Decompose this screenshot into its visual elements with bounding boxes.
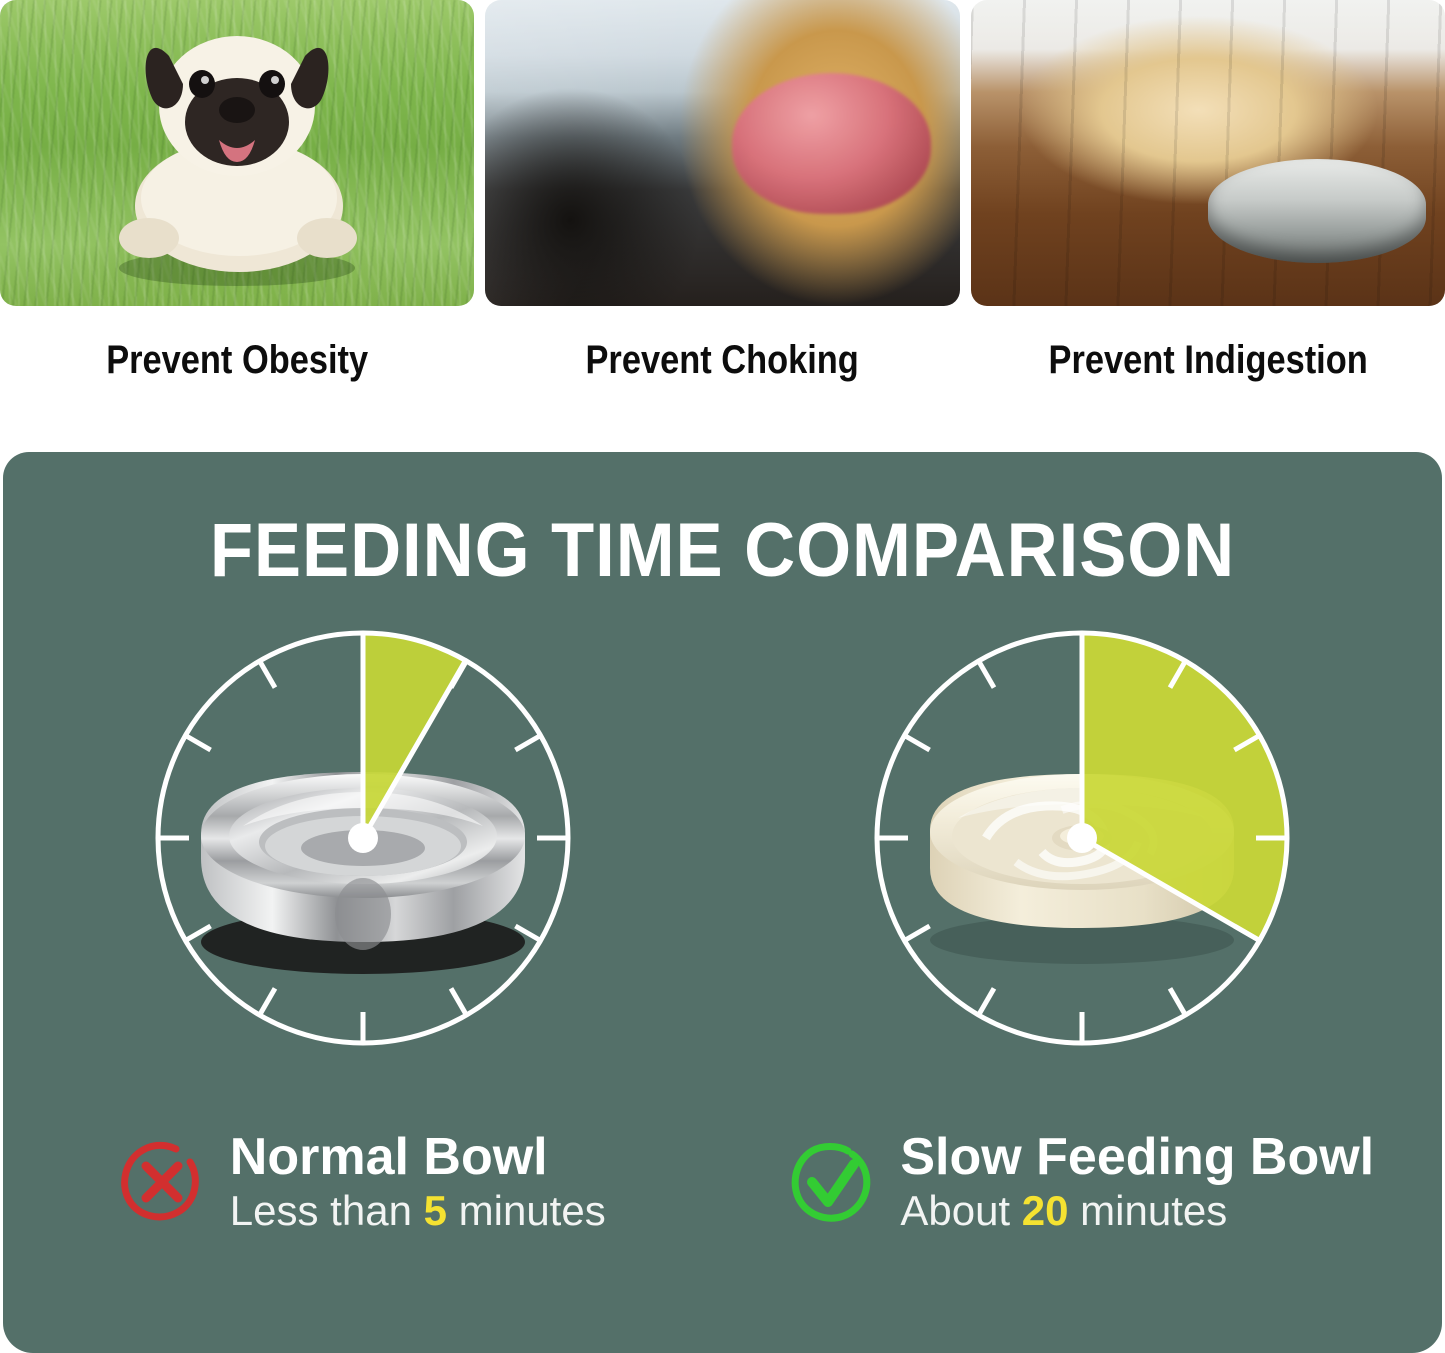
result-text: Normal Bowl Less than 5 minutes <box>230 1128 606 1236</box>
dog-mouth-check-photo <box>485 0 959 306</box>
result-sub-value: 20 <box>1022 1187 1069 1234</box>
results-row: Normal Bowl Less than 5 minutes Slow Fee… <box>3 1128 1442 1236</box>
result-subtitle: Less than 5 minutes <box>230 1186 606 1236</box>
result-sub-suffix: minutes <box>447 1187 606 1234</box>
benefit-card-obesity: Prevent Obesity <box>0 0 474 420</box>
fat-pug-on-grass-photo <box>0 0 474 306</box>
result-sub-prefix: Less than <box>230 1187 424 1234</box>
result-title: Slow Feeding Bowl <box>900 1128 1374 1186</box>
benefit-caption: Prevent Obesity <box>33 336 441 384</box>
green-check-icon <box>790 1140 874 1224</box>
benefit-caption: Prevent Indigestion <box>1004 336 1412 384</box>
result-text: Slow Feeding Bowl About 20 minutes <box>900 1128 1374 1236</box>
slow-feeding-bowl-clock-column <box>723 622 1443 1142</box>
normal-bowl-clock <box>147 622 579 1054</box>
clock-center-hub <box>348 823 378 853</box>
result-title: Normal Bowl <box>230 1128 606 1186</box>
result-sub-value: 5 <box>424 1187 447 1234</box>
product-infographic: Prevent Obesity Prevent Choking Prevent … <box>0 0 1445 1353</box>
normal-bowl-clock-column <box>3 622 723 1142</box>
result-sub-prefix: About <box>900 1187 1021 1234</box>
clock-comparison-row <box>3 622 1442 1142</box>
clock-center-hub <box>1067 823 1097 853</box>
benefit-card-indigestion: Prevent Indigestion <box>971 0 1445 420</box>
benefit-card-choking: Prevent Choking <box>485 0 959 420</box>
slow-feeding-bowl-clock <box>866 622 1298 1054</box>
feeding-time-comparison-panel: FEEDING TIME COMPARISON <box>3 452 1442 1353</box>
result-subtitle: About 20 minutes <box>900 1186 1374 1236</box>
pug-illustration <box>87 10 387 290</box>
result-sub-suffix: minutes <box>1069 1187 1228 1234</box>
page-title: FEEDING TIME COMPARISON <box>53 510 1391 592</box>
result-normal-bowl: Normal Bowl Less than 5 minutes <box>3 1128 723 1236</box>
benefit-caption: Prevent Choking <box>519 336 927 384</box>
dog-lying-beside-food-bowl-photo <box>971 0 1445 306</box>
benefits-strip: Prevent Obesity Prevent Choking Prevent … <box>0 0 1445 420</box>
result-slow-feeding-bowl: Slow Feeding Bowl About 20 minutes <box>723 1128 1443 1236</box>
red-cross-icon <box>120 1140 204 1224</box>
